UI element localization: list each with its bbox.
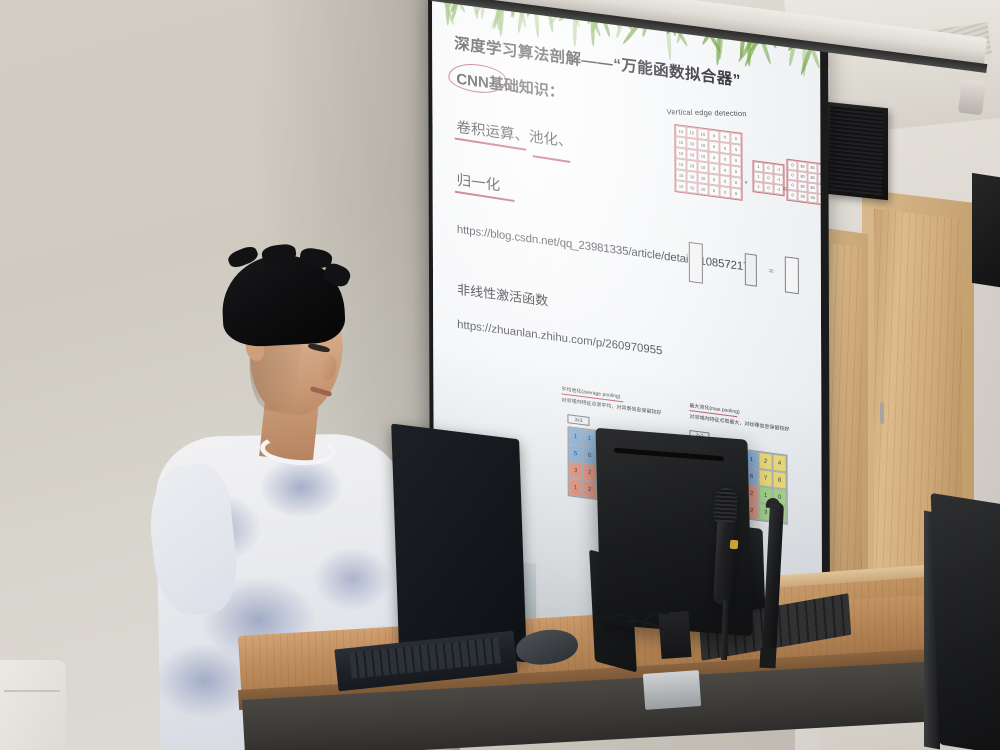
- matrix-cell: 1: [754, 181, 764, 192]
- pooling-cell: 4: [772, 454, 786, 473]
- matrix-cell: 0: [720, 186, 731, 198]
- slide-line-4: 非线性激活函数: [457, 279, 548, 310]
- conv-bottom-operator-star: *: [727, 261, 730, 270]
- matrix-cell: 0: [788, 190, 798, 201]
- conv-result-matrix: 030300030300030300030300: [786, 159, 822, 206]
- slide-subtitle: CNN基础知识：: [456, 68, 564, 103]
- microphone-head: [713, 487, 738, 522]
- slide-url-2[interactable]: https://zhuanlan.zhihu.com/p/260970955: [457, 319, 662, 358]
- monitor-right: [931, 493, 1000, 750]
- matrix-cell: 0: [731, 187, 742, 199]
- microphone-gold-accent: [730, 540, 739, 550]
- conv-bottom-operator-equals: =: [769, 266, 774, 276]
- speaker-grill-icon: [830, 106, 882, 195]
- pooling-cell: 3: [569, 461, 583, 480]
- conv-kernel-matrix: 10-110-110-1: [752, 160, 784, 196]
- matrix-cell: 0: [818, 194, 823, 205]
- antenna-base: [759, 648, 776, 669]
- pooling-cell: 5: [569, 444, 583, 463]
- pooling-cell: 2: [583, 480, 597, 499]
- pooling-cell: 6: [583, 446, 597, 465]
- pooling-cell: 1: [568, 427, 582, 446]
- pooling-cell: 2: [583, 463, 597, 482]
- conv-feature-bar-1: [689, 242, 703, 284]
- screen-roller-cap: [958, 79, 986, 116]
- matrix-cell: 0: [764, 183, 774, 194]
- matrix-cell: 10: [687, 182, 698, 194]
- kernel-size-label-left: 3x3: [567, 414, 589, 426]
- pooling-cell: 7: [759, 469, 773, 488]
- side-cabinet: [0, 660, 66, 750]
- pooling-cell: 1: [569, 478, 583, 497]
- matrix-cell: 10: [698, 183, 709, 195]
- wall-speaker-secondary: [972, 173, 1000, 289]
- conv-feature-bar-3: [785, 256, 799, 294]
- classroom-scene: 深度学习算法剖解——“万能函数拟合器” CNN基础知识： 卷积运算、池化、 归一…: [0, 0, 1000, 750]
- matrix-cell: 30: [798, 191, 808, 202]
- wall-speaker: [826, 102, 888, 201]
- matrix-cell: 30: [808, 192, 818, 203]
- matrix-cell: 0: [709, 184, 720, 196]
- pooling-cell: 2: [758, 452, 772, 471]
- convolution-figure-caption: Vertical edge detection: [666, 107, 747, 118]
- conv-feature-bar-2: [745, 253, 757, 287]
- matrix-cell: 10: [676, 180, 687, 192]
- cabinet-seam: [4, 690, 60, 692]
- conv-input-matrix: 1010100001010100001010100001010100001010…: [674, 124, 742, 201]
- pooling-cell: 1: [582, 429, 596, 448]
- laptop-screen: [391, 424, 527, 663]
- cable-bundle: [592, 612, 702, 668]
- pooling-note-right: 对邻域内特征点取最大，对纹理信息保留较好: [689, 413, 789, 433]
- cable-tray-bracket: [643, 670, 701, 710]
- door-handle-right[interactable]: [880, 402, 884, 424]
- conv-operator-star: *: [745, 179, 748, 188]
- convolution-figure: Vertical edge detection 1010100001010100…: [664, 93, 815, 313]
- antenna-tip: [766, 498, 781, 509]
- pooling-cell: 8: [773, 471, 787, 490]
- underline-2: [533, 155, 571, 163]
